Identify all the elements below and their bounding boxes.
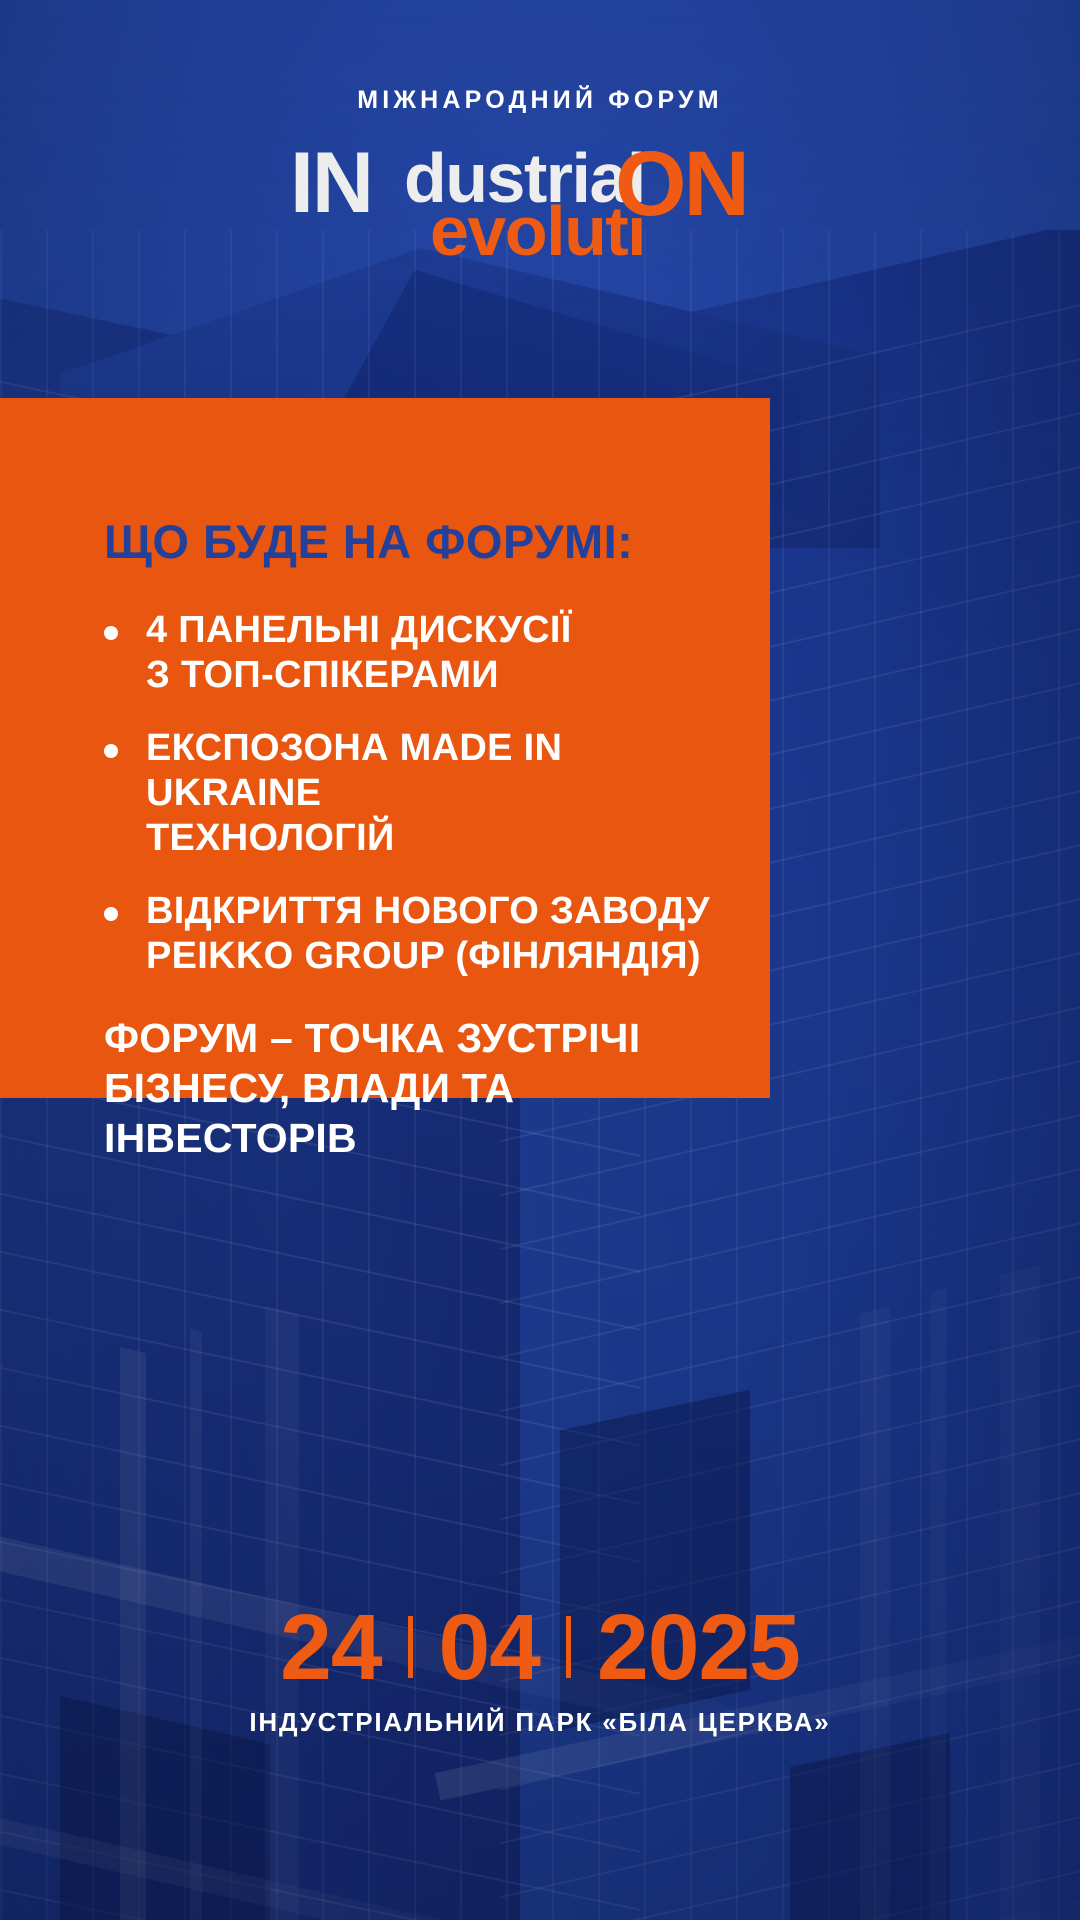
header: МІЖНАРОДНИЙ ФОРУМ (0, 86, 1080, 115)
list-item-line: ВІДКРИТТЯ НОВОГО ЗАВОДУ (146, 890, 710, 932)
panel-tagline: ФОРУМ – ТОЧКА ЗУСТРІЧІ БІЗНЕСУ, ВЛАДИ ТА… (104, 1013, 726, 1163)
logo-lockup: IN dustrial evoluti ON (0, 136, 1080, 254)
list-item-text: ВІДКРИТТЯ НОВОГО ЗАВОДУ PEIKKO GROUP (ФІ… (146, 889, 710, 979)
list-item-text: ЕКСПОЗОНА MADE IN UKRAINE ТЕХНОЛОГІЙ (146, 726, 726, 861)
bullet-dot-icon (104, 744, 118, 758)
list-item: ВІДКРИТТЯ НОВОГО ЗАВОДУ PEIKKO GROUP (ФІ… (104, 889, 726, 979)
date-day: 24 (280, 1599, 381, 1695)
list-item-line: 4 ПАНЕЛЬНІ ДИСКУСІЇ (146, 609, 572, 651)
poster-root: МІЖНАРОДНИЙ ФОРУМ IN dustrial evoluti ON… (0, 0, 1080, 1920)
logo-part-in: IN (290, 140, 372, 226)
date-month: 04 (439, 1599, 540, 1695)
agenda-list: 4 ПАНЕЛЬНІ ДИСКУСІЇ З ТОП-СПІКЕРАМИ ЕКСП… (104, 608, 726, 979)
bullet-dot-icon (104, 626, 118, 640)
list-item-line: З ТОП-СПІКЕРАМИ (146, 654, 499, 696)
orange-content-panel: ЩО БУДЕ НА ФОРУМІ: 4 ПАНЕЛЬНІ ДИСКУСІЇ З… (0, 398, 770, 1098)
brand-logo: IN dustrial evoluti ON (290, 136, 790, 254)
list-item-line: PEIKKO GROUP (ФІНЛЯНДІЯ) (146, 935, 701, 977)
list-item-line: ТЕХНОЛОГІЙ (146, 817, 395, 859)
logo-part-evoluti: evoluti (430, 196, 645, 266)
tagline-line: ФОРУМ – ТОЧКА ЗУСТРІЧІ (104, 1015, 640, 1061)
panel-title: ЩО БУДЕ НА ФОРУМІ: (104, 516, 726, 568)
date-year: 2025 (597, 1599, 800, 1695)
tagline-line: БІЗНЕСУ, ВЛАДИ ТА ІНВЕСТОРІВ (104, 1065, 514, 1161)
list-item: ЕКСПОЗОНА MADE IN UKRAINE ТЕХНОЛОГІЙ (104, 726, 726, 861)
event-kicker: МІЖНАРОДНИЙ ФОРУМ (0, 86, 1080, 115)
list-item: 4 ПАНЕЛЬНІ ДИСКУСІЇ З ТОП-СПІКЕРАМИ (104, 608, 726, 698)
date-separator-icon (566, 1616, 571, 1678)
date-separator-icon (408, 1616, 413, 1678)
bullet-dot-icon (104, 907, 118, 921)
list-item-line: ЕКСПОЗОНА MADE IN UKRAINE (146, 727, 562, 814)
logo-part-on: ON (615, 138, 747, 230)
event-date: 24 04 2025 (0, 1599, 1080, 1695)
event-venue: ІНДУСТРІАЛЬНИЙ ПАРК «БІЛА ЦЕРКВА» (0, 1707, 1080, 1738)
footer: 24 04 2025 ІНДУСТРІАЛЬНИЙ ПАРК «БІЛА ЦЕР… (0, 1599, 1080, 1738)
list-item-text: 4 ПАНЕЛЬНІ ДИСКУСІЇ З ТОП-СПІКЕРАМИ (146, 608, 572, 698)
panel-inner: ЩО БУДЕ НА ФОРУМІ: 4 ПАНЕЛЬНІ ДИСКУСІЇ З… (0, 398, 770, 1163)
